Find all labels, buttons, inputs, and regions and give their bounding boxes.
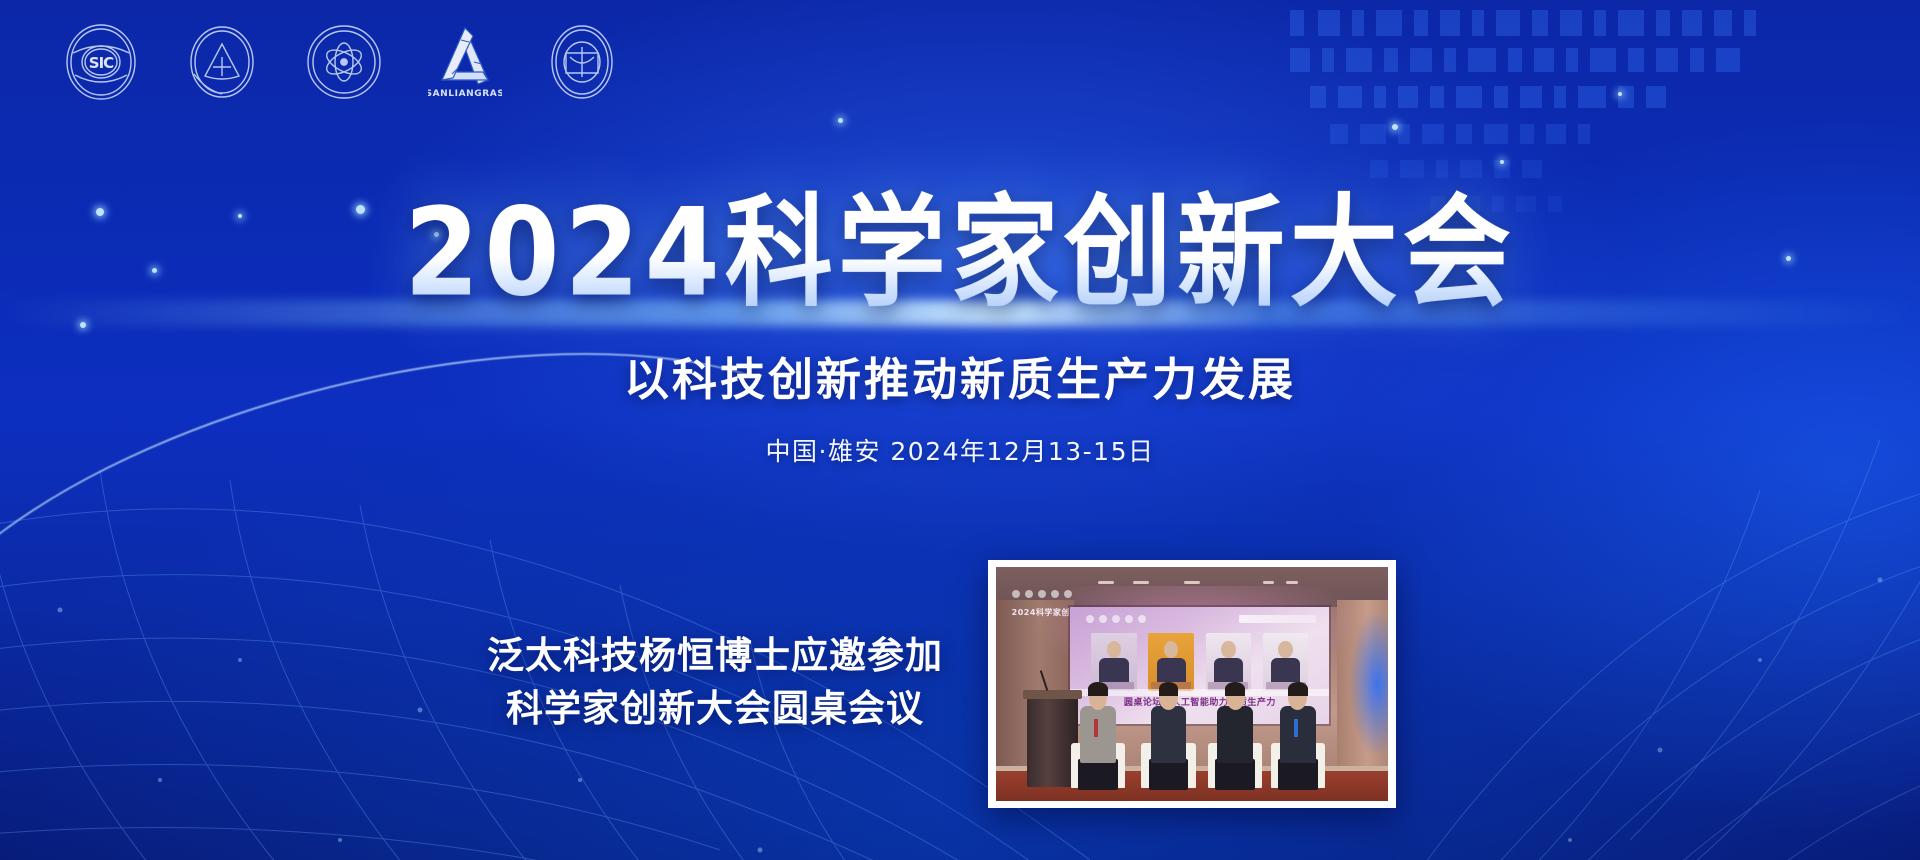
page-subtitle: 以科技创新推动新质生产力发展 [0, 343, 1920, 408]
oval-institute-logo [546, 23, 618, 101]
ceiling-light [1098, 581, 1114, 584]
particle [1500, 160, 1504, 164]
ceiling-light [1133, 581, 1149, 584]
event-caption: 泛太科技杨恒博士应邀参加 科学家创新大会圆桌会议 [455, 630, 975, 735]
title-block: 2024科学家创新大会 以科技创新推动新质生产力发展 中国·雄安 2024年12… [0, 196, 1920, 468]
organizer-logos: SIC [62, 22, 618, 102]
date-location-line: 中国·雄安 2024年12月13-15日 [0, 432, 1920, 468]
screen-icon-row [1086, 615, 1146, 623]
panelist [1274, 684, 1321, 782]
event-photo: 2024科学家创新大会 圆桌论坛：人工智能助力新质生产力 [988, 560, 1396, 808]
svg-text:SIC: SIC [89, 54, 114, 72]
caption-line-2: 科学家创新大会圆桌会议 [455, 683, 975, 736]
ceiling-light [1286, 581, 1298, 584]
triangle-seal-logo [184, 24, 260, 100]
penrose-triangle-logo: SANLIANGRAS [428, 22, 502, 102]
poster-canvas: SIC [0, 0, 1920, 860]
ceiling-light [1184, 581, 1200, 584]
photo-blue-glow [1349, 609, 1388, 759]
sic-seal-logo: SIC [62, 23, 140, 101]
panelist [1074, 684, 1121, 782]
speaker-portraits [1091, 633, 1308, 692]
particle [1618, 92, 1622, 96]
panelist [1212, 684, 1259, 782]
caption-line-1: 泛太科技杨恒博士应邀参加 [455, 630, 975, 683]
venue-banner-icons [1012, 590, 1072, 598]
particle [838, 118, 843, 123]
particle [1392, 124, 1398, 130]
panelist [1145, 684, 1192, 782]
ceiling-light [1263, 581, 1275, 584]
page-title: 2024科学家创新大会 [398, 189, 1522, 320]
screen-brand-mark [1239, 615, 1317, 623]
atom-seal-logo [304, 23, 384, 101]
photo-content: 2024科学家创新大会 圆桌论坛：人工智能助力新质生产力 [996, 567, 1388, 801]
svg-text:SANLIANGRAS: SANLIANGRAS [428, 89, 502, 99]
